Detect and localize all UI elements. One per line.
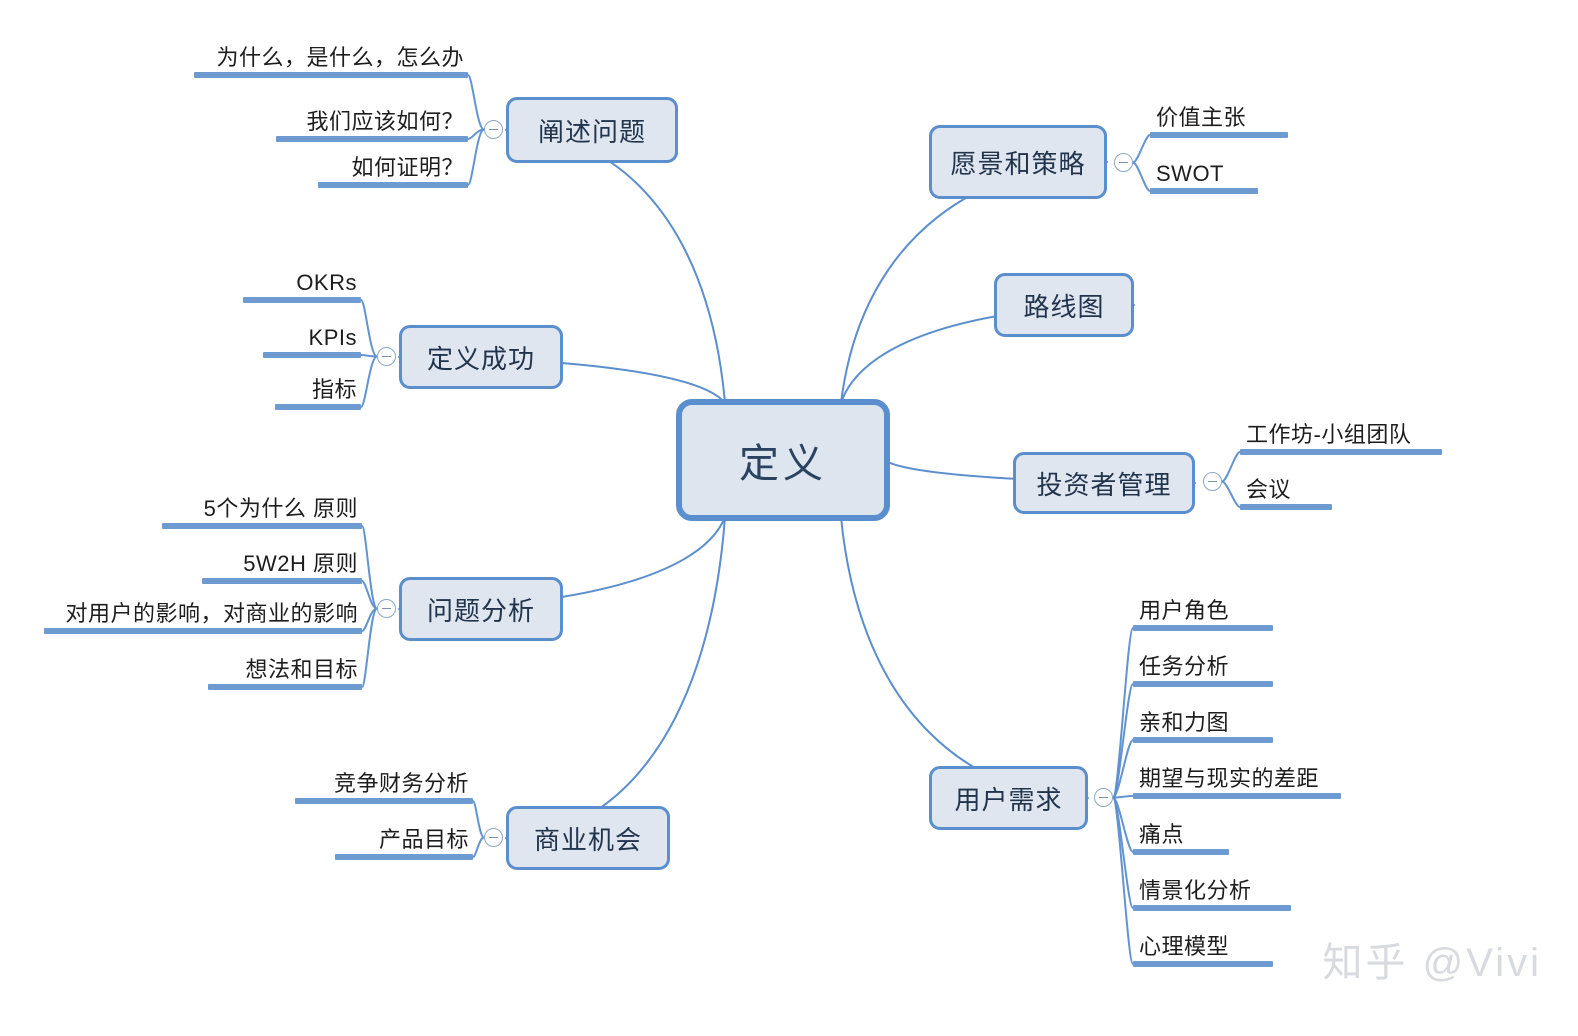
mindmap-canvas: 定义阐述问题为什么，是什么，怎么办我们应该如何？如何证明？定义成功OKRsKPI…: [0, 0, 1578, 1036]
leaf-node[interactable]: 心理模型: [1133, 925, 1273, 967]
leaf-node[interactable]: OKRs: [243, 263, 361, 303]
leaf-underline: [208, 684, 362, 690]
leaf-label: 对用户的影响，对商业的影响: [65, 603, 358, 625]
leaf-underline: [243, 297, 361, 303]
collapse-toggle-investor-management[interactable]: [1203, 472, 1222, 491]
leaf-label: 工作坊-小组团队: [1246, 424, 1411, 446]
leaf-underline: [1150, 188, 1258, 194]
leaf-underline: [194, 72, 468, 78]
leaf-underline: [1133, 793, 1341, 799]
branch-node-label: 商业机会: [534, 820, 642, 857]
leaf-node[interactable]: 想法和目标: [208, 648, 362, 690]
root-node-label: 定义: [739, 431, 827, 489]
leaf-label: 亲和力图: [1139, 712, 1229, 734]
leaf-node[interactable]: 情景化分析: [1133, 869, 1291, 911]
leaf-node[interactable]: 我们应该如何？: [276, 100, 468, 142]
leaf-underline: [263, 352, 361, 358]
leaf-underline: [202, 578, 362, 584]
leaf-label: 会议: [1246, 479, 1291, 501]
branch-node-problem-analysis[interactable]: 问题分析: [399, 577, 563, 641]
leaf-node[interactable]: SWOT: [1150, 152, 1258, 194]
leaf-underline: [1240, 449, 1442, 455]
leaf-label: 为什么，是什么，怎么办: [216, 47, 464, 69]
leaf-node[interactable]: 如何证明？: [318, 146, 468, 188]
leaf-underline: [295, 798, 473, 804]
collapse-toggle-statement[interactable]: [484, 120, 503, 139]
leaf-underline: [335, 854, 473, 860]
leaf-label: 5W2H 原则: [243, 553, 358, 575]
leaf-label: 指标: [312, 379, 357, 401]
leaf-underline: [1133, 905, 1291, 911]
leaf-label: 我们应该如何？: [306, 111, 464, 133]
branch-node-roadmap[interactable]: 路线图: [994, 273, 1134, 337]
branch-node-label: 用户需求: [954, 780, 1062, 817]
branch-node-vision-strategy[interactable]: 愿景和策略: [929, 125, 1107, 199]
leaf-label: 价值主张: [1156, 107, 1246, 129]
leaf-underline: [1133, 681, 1273, 687]
leaf-label: 想法和目标: [245, 659, 358, 681]
leaf-underline: [1240, 504, 1332, 510]
leaf-node[interactable]: 用户角色: [1133, 589, 1273, 631]
leaf-label: 任务分析: [1139, 656, 1229, 678]
leaf-label: 如何证明？: [351, 157, 464, 179]
branch-node-label: 定义成功: [427, 339, 535, 376]
branch-node-statement[interactable]: 阐述问题: [506, 97, 678, 163]
collapse-toggle-user-needs[interactable]: [1094, 788, 1113, 807]
leaf-node[interactable]: 对用户的影响，对商业的影响: [44, 592, 362, 634]
leaf-underline: [44, 628, 362, 634]
collapse-toggle-problem-analysis[interactable]: [377, 599, 396, 618]
watermark: 知乎 @Vivi: [1323, 930, 1542, 988]
branch-node-label: 问题分析: [427, 591, 535, 628]
leaf-label: 用户角色: [1139, 600, 1229, 622]
leaf-label: 5个为什么 原则: [204, 498, 358, 520]
leaf-underline: [275, 404, 361, 410]
collapse-toggle-define-success[interactable]: [377, 347, 396, 366]
leaf-underline: [1150, 132, 1288, 138]
leaf-label: OKRs: [296, 272, 357, 294]
collapse-toggle-vision-strategy[interactable]: [1114, 153, 1133, 172]
branch-node-user-needs[interactable]: 用户需求: [929, 766, 1088, 830]
leaf-label: 竞争财务分析: [334, 773, 469, 795]
leaf-node[interactable]: 工作坊-小组团队: [1240, 413, 1442, 455]
leaf-label: KPIs: [309, 327, 357, 349]
leaf-label: SWOT: [1156, 163, 1224, 185]
leaf-label: 产品目标: [379, 829, 469, 851]
branch-node-business-opportunity[interactable]: 商业机会: [506, 806, 670, 870]
leaf-underline: [1133, 737, 1273, 743]
leaf-node[interactable]: 亲和力图: [1133, 701, 1273, 743]
leaf-underline: [1133, 961, 1273, 967]
leaf-node[interactable]: 痛点: [1133, 813, 1229, 855]
leaf-node[interactable]: 为什么，是什么，怎么办: [194, 36, 468, 78]
leaf-node[interactable]: 5个为什么 原则: [162, 487, 362, 529]
collapse-toggle-business-opportunity[interactable]: [484, 828, 503, 847]
leaf-label: 心理模型: [1139, 936, 1229, 958]
leaf-underline: [276, 136, 468, 142]
leaf-underline: [1133, 849, 1229, 855]
leaf-node[interactable]: KPIs: [263, 318, 361, 358]
leaf-underline: [1133, 625, 1273, 631]
branch-node-label: 愿景和策略: [950, 144, 1085, 181]
branch-node-label: 路线图: [1023, 287, 1104, 324]
leaf-node[interactable]: 5W2H 原则: [202, 542, 362, 584]
leaf-label: 痛点: [1139, 824, 1184, 846]
leaf-node[interactable]: 价值主张: [1150, 96, 1288, 138]
leaf-label: 情景化分析: [1139, 880, 1252, 902]
branch-node-label: 投资者管理: [1036, 465, 1171, 502]
leaf-node[interactable]: 指标: [275, 370, 361, 410]
leaf-node[interactable]: 竞争财务分析: [295, 762, 473, 804]
leaf-node[interactable]: 产品目标: [335, 818, 473, 860]
branch-node-define-success[interactable]: 定义成功: [399, 325, 563, 389]
leaf-node[interactable]: 任务分析: [1133, 645, 1273, 687]
leaf-underline: [318, 182, 468, 188]
leaf-underline: [162, 523, 362, 529]
leaf-node[interactable]: 期望与现实的差距: [1133, 757, 1341, 799]
leaf-label: 期望与现实的差距: [1139, 768, 1319, 790]
branch-node-label: 阐述问题: [538, 112, 646, 149]
leaf-node[interactable]: 会议: [1240, 468, 1332, 510]
branch-node-investor-management[interactable]: 投资者管理: [1013, 452, 1195, 514]
root-node: 定义: [676, 399, 890, 521]
